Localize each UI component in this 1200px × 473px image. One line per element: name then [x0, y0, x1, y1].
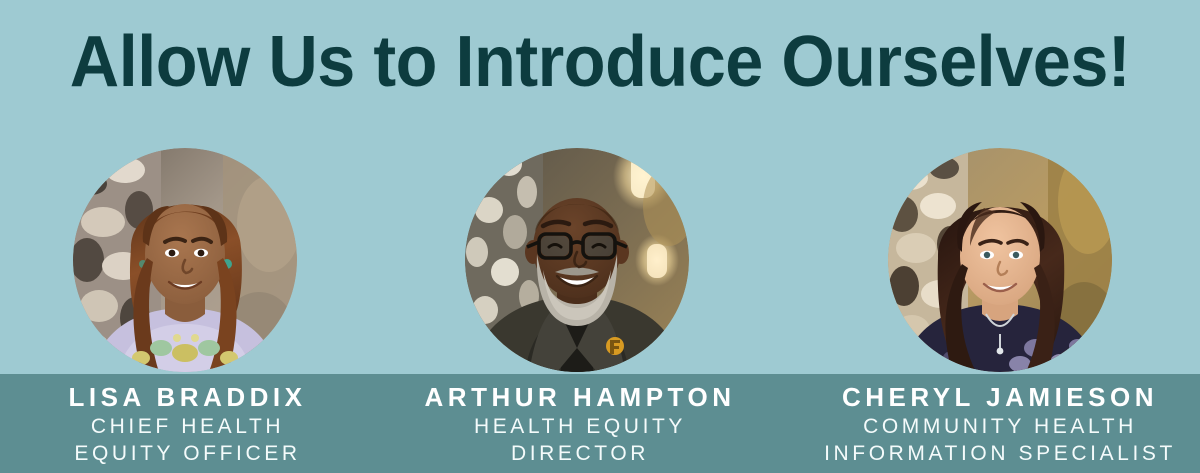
- person-title-1-line-2: EQUITY OFFICER: [0, 440, 375, 468]
- person-title-3: COMMUNITY HEALTH INFORMATION SPECIALIST: [800, 413, 1200, 468]
- team-introduction-banner: Allow Us to Introduce Ourselves!: [0, 0, 1200, 473]
- person-title-1-line-1: CHIEF HEALTH: [0, 413, 375, 441]
- person-title-3-line-1: COMMUNITY HEALTH: [800, 413, 1200, 441]
- person-name-2: ARTHUR HAMPTON: [380, 382, 780, 413]
- person-title-2-line-1: HEALTH EQUITY: [380, 413, 780, 441]
- avatar-arthur-hampton: [465, 148, 689, 372]
- avatar-lisa-braddix: [73, 148, 297, 372]
- portrait-illustration-1: [73, 148, 297, 372]
- person-title-2: HEALTH EQUITY DIRECTOR: [380, 413, 780, 468]
- portrait-illustration-2: [465, 148, 689, 372]
- person-caption-2: ARTHUR HAMPTON HEALTH EQUITY DIRECTOR: [380, 382, 780, 468]
- person-name-3: CHERYL JAMIESON: [800, 382, 1200, 413]
- avatar-cheryl-jamieson: [888, 148, 1112, 372]
- portrait-illustration-3: [888, 148, 1112, 372]
- person-caption-3: CHERYL JAMIESON COMMUNITY HEALTH INFORMA…: [800, 382, 1200, 468]
- person-caption-1: LISA BRADDIX CHIEF HEALTH EQUITY OFFICER: [0, 382, 375, 468]
- person-title-2-line-2: DIRECTOR: [380, 440, 780, 468]
- person-title-3-line-2: INFORMATION SPECIALIST: [800, 440, 1200, 468]
- person-name-1: LISA BRADDIX: [0, 382, 375, 413]
- lapel-pin-icon: [606, 337, 624, 355]
- person-title-1: CHIEF HEALTH EQUITY OFFICER: [0, 413, 375, 468]
- page-title: Allow Us to Introduce Ourselves!: [30, 26, 1170, 98]
